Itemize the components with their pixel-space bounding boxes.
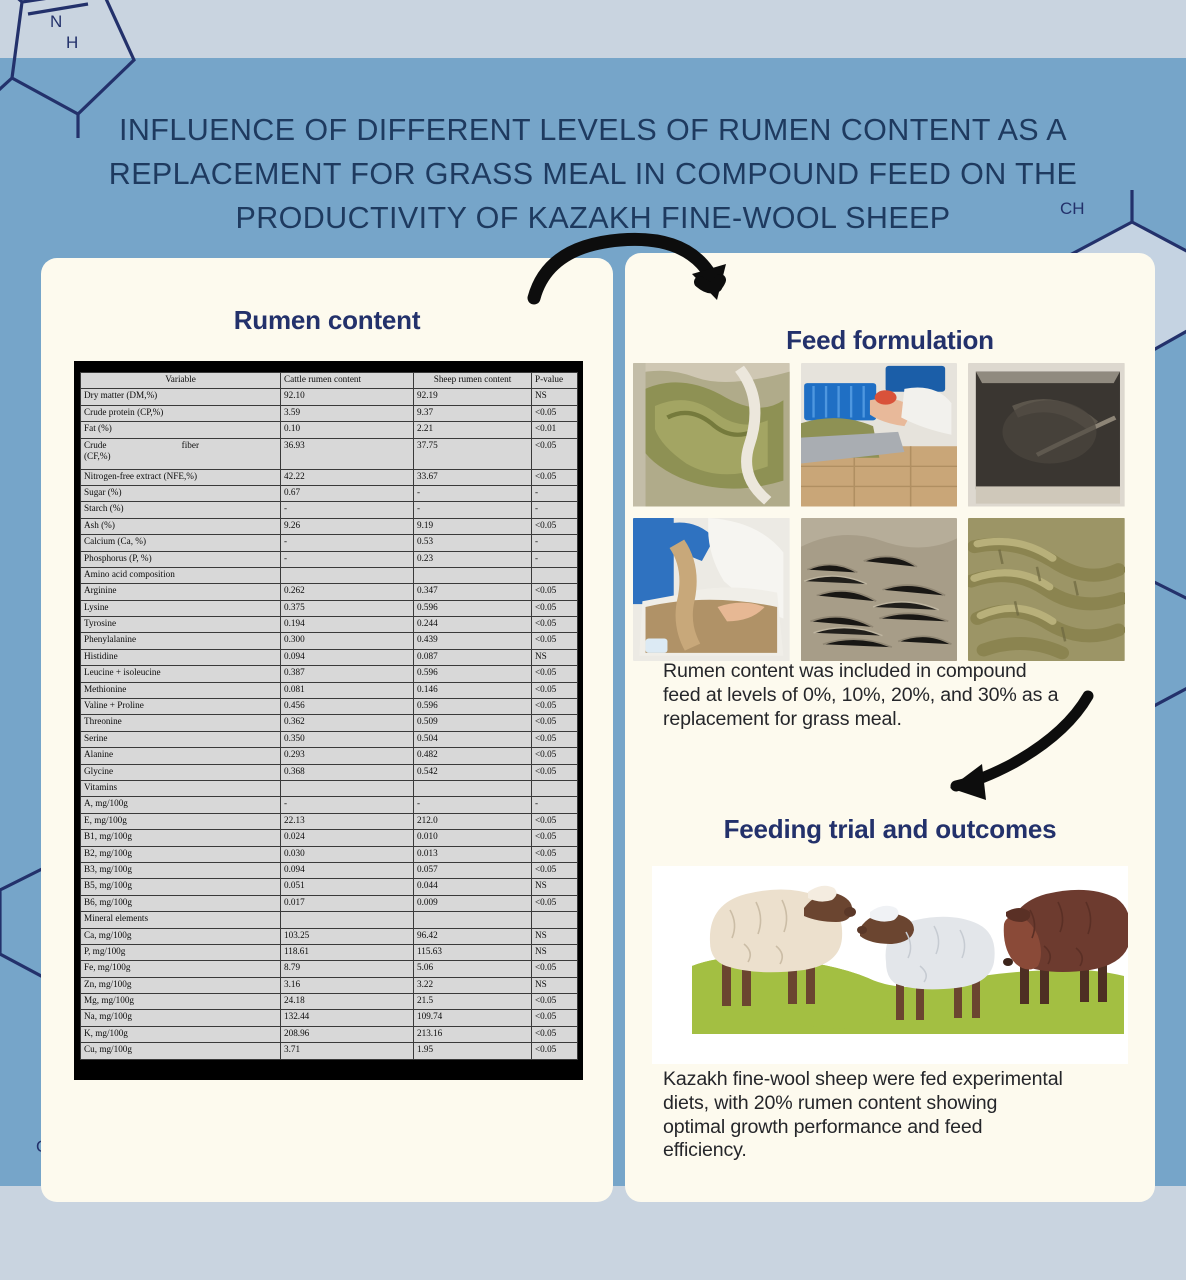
cell-cattle: 0.300 (281, 633, 414, 649)
cell-cattle: - (281, 797, 414, 813)
cell-p: <0.05 (532, 764, 578, 780)
cell-cattle: 0.024 (281, 830, 414, 846)
table-row: Alanine0.2930.482<0.05 (81, 748, 578, 764)
cell-p (532, 567, 578, 583)
cell-variable: P, mg/100g (81, 944, 281, 960)
cell-p: <0.05 (532, 1043, 578, 1059)
cell-cattle: 0.017 (281, 895, 414, 911)
cell-sheep: 0.439 (414, 633, 532, 649)
cell-sheep (414, 912, 532, 928)
table-row: Amino acid composition (81, 567, 578, 583)
cell-variable: Zn, mg/100g (81, 977, 281, 993)
cell-variable: Valine + Proline (81, 699, 281, 715)
cell-variable: Ca, mg/100g (81, 928, 281, 944)
cell-cattle: 103.25 (281, 928, 414, 944)
table-row: Arginine0.2620.347<0.05 (81, 584, 578, 600)
feeding-trial-caption: Kazakh fine-wool sheep were fed experime… (663, 1068, 1063, 1163)
cell-p: <0.05 (532, 682, 578, 698)
table-header-row: Variable Cattle rumen content Sheep rume… (81, 373, 578, 389)
cell-cattle: 0.094 (281, 649, 414, 665)
cell-sheep: 37.75 (414, 438, 532, 469)
cell-sheep: 3.22 (414, 977, 532, 993)
cell-sheep: 212.0 (414, 813, 532, 829)
cell-cattle: 0.375 (281, 600, 414, 616)
cell-variable: A, mg/100g (81, 797, 281, 813)
cell-sheep: 0.482 (414, 748, 532, 764)
feeding-trial-heading: Feeding trial and outcomes (625, 814, 1155, 845)
col-header-pvalue: P-value (532, 373, 578, 389)
rumen-composition-table: Variable Cattle rumen content Sheep rume… (80, 372, 578, 1060)
cell-sheep: 0.504 (414, 731, 532, 747)
page-title: INFLUENCE OF DIFFERENT LEVELS OF RUMEN C… (80, 108, 1106, 240)
cell-p: <0.05 (532, 518, 578, 534)
table-row: Nitrogen-free extract (NFE,%)42.2233.67<… (81, 469, 578, 485)
table-row: B3, mg/100g0.0940.057<0.05 (81, 862, 578, 878)
cell-cattle (281, 912, 414, 928)
cell-sheep: 0.596 (414, 600, 532, 616)
cell-sheep: 0.013 (414, 846, 532, 862)
cell-p: - (532, 502, 578, 518)
cell-sheep: 92.19 (414, 389, 532, 405)
cell-variable: Calcium (Ca, %) (81, 535, 281, 551)
photo-worker-pouring-dried-feed (633, 518, 790, 662)
cell-p: <0.05 (532, 584, 578, 600)
cell-sheep (414, 780, 532, 796)
cell-sheep: 0.044 (414, 879, 532, 895)
cell-variable: E, mg/100g (81, 813, 281, 829)
feed-formulation-heading: Feed formulation (625, 325, 1155, 356)
cell-sheep: - (414, 485, 532, 501)
table-row: Tyrosine0.1940.244<0.05 (81, 617, 578, 633)
table-row: Starch (%)--- (81, 502, 578, 518)
cell-cattle: 0.456 (281, 699, 414, 715)
cell-variable: Crudefiber(CF,%) (81, 438, 281, 469)
cell-cattle: 8.79 (281, 961, 414, 977)
cell-p: - (532, 797, 578, 813)
table-row: Zn, mg/100g3.163.22NS (81, 977, 578, 993)
cell-cattle (281, 567, 414, 583)
cell-p: <0.05 (532, 666, 578, 682)
cell-sheep: 0.347 (414, 584, 532, 600)
cell-variable: B1, mg/100g (81, 830, 281, 846)
cell-sheep: 115.63 (414, 944, 532, 960)
cell-variable: Dry matter (DM,%) (81, 389, 281, 405)
cell-cattle: 3.71 (281, 1043, 414, 1059)
cell-sheep: 109.74 (414, 1010, 532, 1026)
table-row: Valine + Proline0.4560.596<0.05 (81, 699, 578, 715)
cell-variable: B5, mg/100g (81, 879, 281, 895)
feed-formulation-caption: Rumen content was included in compound f… (663, 660, 1063, 731)
cell-sheep: 0.009 (414, 895, 532, 911)
table-row: Glycine0.3680.542<0.05 (81, 764, 578, 780)
table-row: Mineral elements (81, 912, 578, 928)
cell-sheep: 9.19 (414, 518, 532, 534)
cell-cattle: 118.61 (281, 944, 414, 960)
cell-p: - (532, 485, 578, 501)
cell-variable: B2, mg/100g (81, 846, 281, 862)
cell-variable: Serine (81, 731, 281, 747)
table-row: Serine0.3500.504<0.05 (81, 731, 578, 747)
cell-cattle: 0.051 (281, 879, 414, 895)
cell-sheep: 0.244 (414, 617, 532, 633)
cell-cattle: - (281, 502, 414, 518)
cell-variable: Fe, mg/100g (81, 961, 281, 977)
cell-variable: Lysine (81, 600, 281, 616)
cell-p: <0.05 (532, 699, 578, 715)
table-row: Calcium (Ca, %)-0.53- (81, 535, 578, 551)
col-header-sheep: Sheep rumen content (414, 373, 532, 389)
cell-cattle: 0.368 (281, 764, 414, 780)
cell-cattle: 22.13 (281, 813, 414, 829)
cell-variable: Threonine (81, 715, 281, 731)
photo-worker-handling-rumen-in-tray (801, 363, 958, 507)
table-body: Dry matter (DM,%)92.1092.19NSCrude prote… (81, 389, 578, 1059)
cell-variable: Crude protein (CP,%) (81, 405, 281, 421)
cell-p: - (532, 535, 578, 551)
cell-sheep: 0.53 (414, 535, 532, 551)
cell-variable: Ash (%) (81, 518, 281, 534)
cell-p: NS (532, 944, 578, 960)
cell-sheep: 0.596 (414, 666, 532, 682)
table-row: Vitamins (81, 780, 578, 796)
table-row: Na, mg/100g132.44109.74<0.05 (81, 1010, 578, 1026)
cell-p: NS (532, 389, 578, 405)
table-row: Sugar (%)0.67-- (81, 485, 578, 501)
cell-sheep: 0.596 (414, 699, 532, 715)
cell-variable: Mineral elements (81, 912, 281, 928)
cell-sheep: - (414, 797, 532, 813)
cell-variable: B6, mg/100g (81, 895, 281, 911)
sheep-illustration (652, 866, 1128, 1064)
cell-sheep: 9.37 (414, 405, 532, 421)
cell-variable: Cu, mg/100g (81, 1043, 281, 1059)
cell-cattle: 9.26 (281, 518, 414, 534)
cell-variable: Starch (%) (81, 502, 281, 518)
cell-cattle: 0.362 (281, 715, 414, 731)
cell-sheep: 33.67 (414, 469, 532, 485)
cell-variable: Methionine (81, 682, 281, 698)
cell-p: <0.05 (532, 617, 578, 633)
cell-p: <0.05 (532, 895, 578, 911)
cell-p: <0.01 (532, 422, 578, 438)
table-row: B6, mg/100g0.0170.009<0.05 (81, 895, 578, 911)
table-row: Leucine + isoleucine0.3870.596<0.05 (81, 666, 578, 682)
cell-variable: Mg, mg/100g (81, 994, 281, 1010)
cell-p: NS (532, 977, 578, 993)
cell-p: <0.05 (532, 469, 578, 485)
cell-variable: Fat (%) (81, 422, 281, 438)
table-row: Lysine0.3750.596<0.05 (81, 600, 578, 616)
col-header-variable: Variable (81, 373, 281, 389)
feed-formulation-photo-grid (633, 363, 1125, 661)
table-row: Crudefiber(CF,%)36.9337.75<0.05 (81, 438, 578, 469)
cell-cattle: - (281, 551, 414, 567)
table-row: B1, mg/100g0.0240.010<0.05 (81, 830, 578, 846)
cell-p: <0.05 (532, 862, 578, 878)
cell-cattle: 132.44 (281, 1010, 414, 1026)
cell-p (532, 912, 578, 928)
cell-variable: Phenylalanine (81, 633, 281, 649)
cell-p: <0.05 (532, 1010, 578, 1026)
cell-variable: B3, mg/100g (81, 862, 281, 878)
cell-p: <0.05 (532, 633, 578, 649)
cell-cattle: 0.387 (281, 666, 414, 682)
cell-p: NS (532, 928, 578, 944)
table-row: Fat (%)0.102.21<0.01 (81, 422, 578, 438)
table-row: E, mg/100g22.13212.0<0.05 (81, 813, 578, 829)
table-row: Dry matter (DM,%)92.1092.19NS (81, 389, 578, 405)
cell-variable: Glycine (81, 764, 281, 780)
cell-sheep: 0.087 (414, 649, 532, 665)
cell-variable: Histidine (81, 649, 281, 665)
cell-sheep: 0.509 (414, 715, 532, 731)
table-row: Cu, mg/100g3.711.95<0.05 (81, 1043, 578, 1059)
table-row: Ca, mg/100g103.2596.42NS (81, 928, 578, 944)
cell-variable: K, mg/100g (81, 1026, 281, 1042)
infographic-page: H N H N CH O C H C (0, 0, 1186, 1280)
rumen-composition-table-container: Variable Cattle rumen content Sheep rume… (74, 361, 583, 1080)
cell-sheep: 0.23 (414, 551, 532, 567)
cell-p: <0.05 (532, 600, 578, 616)
table-row: K, mg/100g208.96213.16<0.05 (81, 1026, 578, 1042)
cell-cattle: 208.96 (281, 1026, 414, 1042)
cell-p: NS (532, 649, 578, 665)
cell-variable: Alanine (81, 748, 281, 764)
cell-cattle (281, 780, 414, 796)
cell-variable: Amino acid composition (81, 567, 281, 583)
cell-p: <0.05 (532, 405, 578, 421)
photo-dried-ground-rumen-meal (801, 518, 958, 662)
cell-sheep: 21.5 (414, 994, 532, 1010)
table-row: P, mg/100g118.61115.63NS (81, 944, 578, 960)
photo-dark-drying-oven-tray (968, 363, 1125, 507)
cell-variable: Na, mg/100g (81, 1010, 281, 1026)
cell-sheep: 0.146 (414, 682, 532, 698)
cell-variable: Nitrogen-free extract (NFE,%) (81, 469, 281, 485)
cell-p: NS (532, 879, 578, 895)
cell-cattle: 36.93 (281, 438, 414, 469)
photo-extruded-feed-pellets (968, 518, 1125, 662)
cell-variable: Phosphorus (P, %) (81, 551, 281, 567)
cell-p: <0.05 (532, 1026, 578, 1042)
cell-cattle: 0.67 (281, 485, 414, 501)
cell-cattle: 42.22 (281, 469, 414, 485)
col-header-cattle: Cattle rumen content (281, 373, 414, 389)
cell-p: <0.05 (532, 961, 578, 977)
cell-sheep: 2.21 (414, 422, 532, 438)
cell-p: <0.05 (532, 731, 578, 747)
cell-cattle: 0.081 (281, 682, 414, 698)
table-row: Histidine0.0940.087NS (81, 649, 578, 665)
cell-variable: Vitamins (81, 780, 281, 796)
cell-sheep: 213.16 (414, 1026, 532, 1042)
cell-variable: Arginine (81, 584, 281, 600)
cell-cattle: 3.59 (281, 405, 414, 421)
cell-sheep: - (414, 502, 532, 518)
table-row: Fe, mg/100g8.795.06<0.05 (81, 961, 578, 977)
cell-sheep (414, 567, 532, 583)
cell-p: <0.05 (532, 994, 578, 1010)
table-row: B2, mg/100g0.0300.013<0.05 (81, 846, 578, 862)
table-row: Ash (%)9.269.19<0.05 (81, 518, 578, 534)
cell-sheep: 1.95 (414, 1043, 532, 1059)
cell-cattle: 3.16 (281, 977, 414, 993)
table-row: A, mg/100g--- (81, 797, 578, 813)
rumen-content-heading: Rumen content (41, 305, 613, 336)
table-row: Crude protein (CP,%)3.599.37<0.05 (81, 405, 578, 421)
cell-cattle: 92.10 (281, 389, 414, 405)
photo-green-rumen-mass-in-tray (633, 363, 790, 507)
cell-p: <0.05 (532, 438, 578, 469)
cell-sheep: 0.057 (414, 862, 532, 878)
cell-p: - (532, 551, 578, 567)
cell-cattle: 0.262 (281, 584, 414, 600)
cell-p: <0.05 (532, 813, 578, 829)
cell-cattle: 0.10 (281, 422, 414, 438)
cell-cattle: 0.094 (281, 862, 414, 878)
cell-p (532, 780, 578, 796)
cell-p: <0.05 (532, 748, 578, 764)
cell-p: <0.05 (532, 715, 578, 731)
cell-cattle: 0.194 (281, 617, 414, 633)
cell-cattle: 0.030 (281, 846, 414, 862)
cell-cattle: 0.350 (281, 731, 414, 747)
table-row: Mg, mg/100g24.1821.5<0.05 (81, 994, 578, 1010)
cell-cattle: 24.18 (281, 994, 414, 1010)
top-background-band (0, 0, 1186, 58)
cell-cattle: - (281, 535, 414, 551)
table-row: Phosphorus (P, %)-0.23- (81, 551, 578, 567)
table-row: Methionine0.0810.146<0.05 (81, 682, 578, 698)
cell-variable: Leucine + isoleucine (81, 666, 281, 682)
cell-p: <0.05 (532, 830, 578, 846)
cell-sheep: 0.542 (414, 764, 532, 780)
cell-p: <0.05 (532, 846, 578, 862)
cell-variable: Sugar (%) (81, 485, 281, 501)
cell-sheep: 0.010 (414, 830, 532, 846)
cell-cattle: 0.293 (281, 748, 414, 764)
cell-variable: Tyrosine (81, 617, 281, 633)
table-row: B5, mg/100g0.0510.044NS (81, 879, 578, 895)
cell-sheep: 96.42 (414, 928, 532, 944)
cell-sheep: 5.06 (414, 961, 532, 977)
table-row: Threonine0.3620.509<0.05 (81, 715, 578, 731)
table-row: Phenylalanine0.3000.439<0.05 (81, 633, 578, 649)
